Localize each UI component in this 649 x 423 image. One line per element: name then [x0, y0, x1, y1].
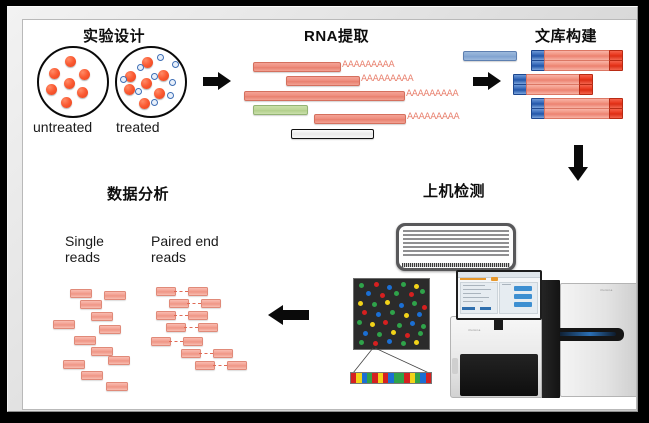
- paired-reads-group: [151, 283, 281, 393]
- rna-transcript: [286, 76, 360, 86]
- monitor-screen[interactable]: [458, 272, 540, 318]
- rna-noncoding-bar: [253, 105, 308, 115]
- title-experimental-design: 实验设计: [83, 25, 145, 46]
- cell: [65, 56, 76, 67]
- library-fragment: [531, 98, 623, 118]
- drug-molecule: [169, 79, 176, 86]
- title-rna-extraction: RNA提取: [304, 25, 369, 46]
- cell: [141, 78, 152, 89]
- read: [108, 356, 130, 365]
- instrument-logo: illumina: [600, 288, 613, 292]
- figure-frame: 实验设计 untreated: [7, 6, 638, 412]
- drug-molecule: [172, 61, 179, 68]
- rna-transcript: [253, 62, 341, 72]
- rna-adapter-bar: [463, 51, 517, 61]
- read: [80, 300, 102, 309]
- arrow-down-icon: [568, 145, 589, 181]
- instrument-logo-left: illumina: [468, 328, 481, 332]
- instrument-loading-bay: [460, 354, 538, 396]
- polya-tail: AAAAAAAAA: [342, 60, 394, 70]
- cell: [139, 98, 150, 109]
- rna-transcript: [314, 114, 406, 124]
- single-reads-group: [48, 283, 158, 398]
- cell: [61, 97, 72, 108]
- drug-molecule: [167, 92, 174, 99]
- cell: [77, 87, 88, 98]
- library-fragment: [531, 50, 623, 70]
- polya-tail: AAAAAAAAA: [407, 112, 459, 122]
- label-paired-reads-line2: reads: [151, 249, 247, 265]
- cell: [64, 78, 75, 89]
- label-single-reads-line2: reads: [65, 249, 135, 265]
- title-sequencing: 上机检测: [423, 180, 485, 201]
- polya-tail: AAAAAAAAA: [406, 89, 458, 99]
- library-fragment: [513, 74, 593, 94]
- sequencer-instrument: illumina illumina: [448, 270, 637, 400]
- cell: [79, 69, 90, 80]
- read: [106, 382, 128, 391]
- read: [74, 336, 96, 345]
- instrument-monitor[interactable]: [456, 270, 542, 320]
- title-library-construction: 文库构建: [535, 25, 597, 46]
- drug-molecule: [151, 99, 158, 106]
- instrument-side-latch: [452, 358, 458, 374]
- label-paired-end-reads: Paired end reads: [151, 233, 247, 265]
- cell: [158, 70, 169, 81]
- dna-bar: [291, 129, 374, 139]
- rna-transcripts-group: AAAAAAAAA AAAAAAAAA AAAAAAAAA AAAAAAAAA: [238, 48, 468, 148]
- flow-cell: [396, 223, 516, 271]
- label-untreated: untreated: [33, 119, 92, 135]
- read: [63, 360, 85, 369]
- cell: [46, 84, 57, 95]
- rna-transcript: [244, 91, 405, 101]
- arrow-right-icon: [473, 72, 503, 91]
- polya-tail: AAAAAAAAA: [361, 74, 413, 84]
- arrow-right-icon: [203, 72, 233, 91]
- cell: [49, 68, 60, 79]
- drug-molecule: [135, 88, 142, 95]
- dish-treated: [115, 46, 187, 118]
- dish-untreated: [37, 46, 109, 118]
- cell: [124, 84, 135, 95]
- label-single-reads: Single reads: [65, 233, 135, 265]
- drug-molecule: [137, 64, 144, 71]
- label-paired-reads-line1: Paired end: [151, 233, 247, 249]
- cell: [154, 88, 165, 99]
- label-treated: treated: [116, 119, 160, 135]
- drug-molecule: [157, 54, 164, 61]
- cluster-image: [353, 278, 430, 350]
- instrument-led: [558, 332, 616, 336]
- drug-molecule: [151, 73, 158, 80]
- read: [81, 371, 103, 380]
- drug-molecule: [120, 76, 127, 83]
- basecall-readout: [350, 372, 432, 384]
- read: [53, 320, 75, 329]
- title-data-analysis: 数据分析: [107, 183, 169, 204]
- read: [104, 291, 126, 300]
- read: [70, 289, 92, 298]
- library-fragments-group: [513, 50, 623, 120]
- read: [91, 347, 113, 356]
- figure-canvas: 实验设计 untreated: [22, 19, 637, 410]
- label-single-reads-line1: Single: [65, 233, 135, 249]
- callout-lines: [351, 346, 431, 374]
- read: [91, 312, 113, 321]
- figure-root: 实验设计 untreated: [0, 0, 649, 423]
- read: [99, 325, 121, 334]
